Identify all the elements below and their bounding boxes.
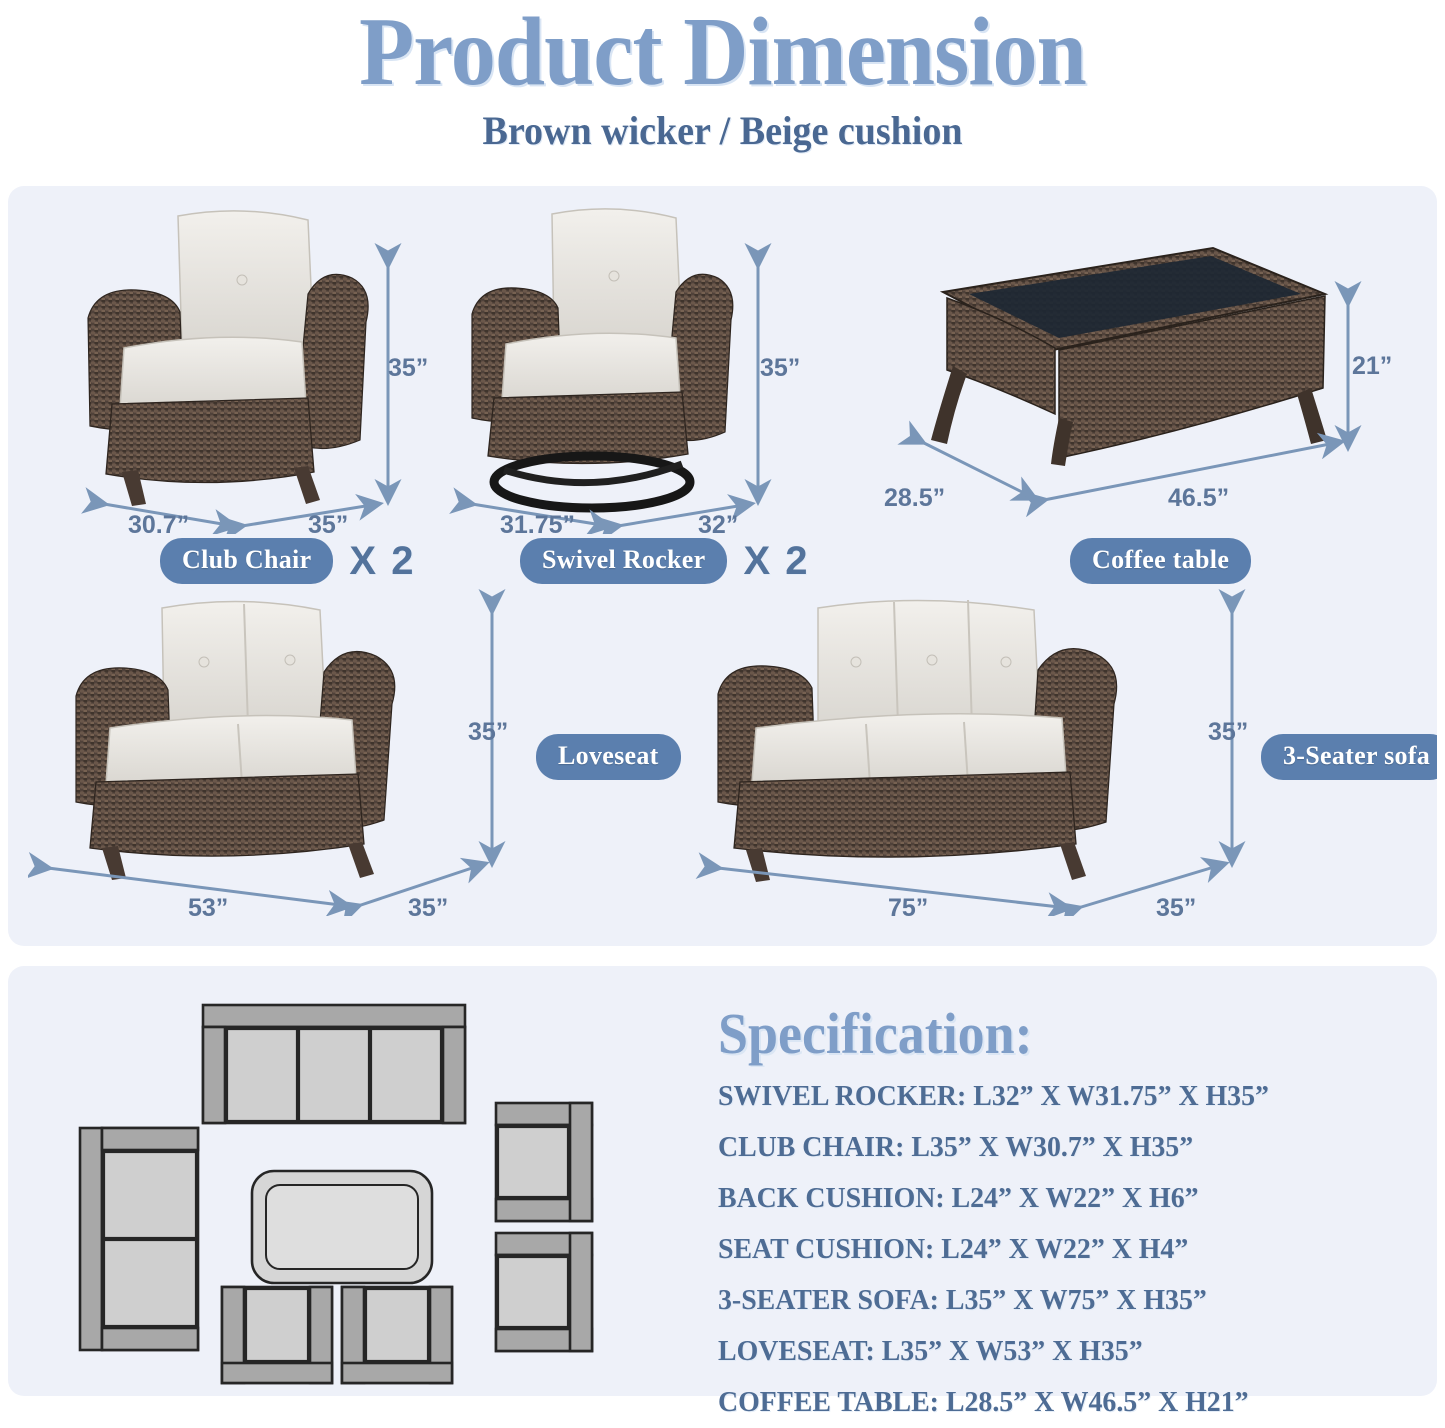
club-chair-width-value: 30.7” [128,511,189,540]
spec-line-back-cushion: BACK CUSHION: L24” X W22” X H6” [718,1173,1409,1224]
coffee-table-plan [252,1171,432,1283]
swivel-rocker-height-value: 35” [760,354,800,383]
three-seater-sofa-height-value: 35” [1208,718,1248,747]
three-seater-sofa-width-value: 75” [888,894,928,923]
club-chair-plan-bottom-right [342,1287,452,1383]
club-chair-depth-value: 35” [308,511,348,540]
loveseat-width-value: 53” [188,894,228,923]
swivel-rocker-label: Swivel Rocker [520,538,727,584]
specification-list: Specification: SWIVEL ROCKER: L32” X W31… [718,1000,1438,1428]
page-header: Product Dimension Brown wicker / Beige c… [0,0,1445,154]
three-seater-sofa-depth-value: 35” [1156,894,1196,923]
coffee-table-width-value: 28.5” [884,484,945,513]
layout-plan-diagram: .fr{fill:#c9c9c9;stroke:#262626;stroke-w… [70,995,690,1395]
spec-line-seat-cushion: SEAT CUSHION: L24” X W22” X H4” [718,1224,1409,1275]
swivel-rocker-depth-value: 32” [698,511,738,540]
page-title: Product Dimension [51,4,1395,99]
swivel-rocker-width-value: 31.75” [500,511,575,540]
coffee-table-depth-value: 46.5” [1168,484,1229,513]
loveseat-height-value: 35” [468,718,508,747]
loveseat-depth-value: 35” [408,894,448,923]
spec-line-swivel-rocker: SWIVEL ROCKER: L32” X W31.75” X H35” [718,1071,1409,1122]
coffee-table-label: Coffee table [1070,538,1251,584]
spec-line-loveseat: LOVESEAT: L35” X W53” X H35” [718,1326,1409,1377]
spec-line-club-chair: CLUB CHAIR: L35” X W30.7” X H35” [718,1122,1409,1173]
club-chair-label: Club Chair [160,538,333,584]
club-chair-plan-right-bottom [496,1233,592,1351]
coffee-table-height-value: 21” [1352,352,1392,381]
loveseat-plan [80,1128,198,1350]
club-chair-plan-right-top [496,1103,592,1221]
spec-line-three-seater-sofa: 3-SEATER SOFA: L35” X W75” X H35” [718,1275,1409,1326]
loveseat-label: Loveseat [536,734,681,780]
three-seater-sofa-dimension-arrows [668,586,1288,916]
three-seater-sofa-plan [203,1005,465,1123]
three-seater-sofa-label: 3-Seater sofa [1261,734,1437,780]
coffee-table-dimension-arrows [888,246,1368,526]
swivel-rocker-quantity: X 2 [743,539,809,584]
club-chair-height-value: 35” [388,354,428,383]
club-chair-plan-bottom-left [222,1287,332,1383]
club-chair-dimension-arrows [38,204,438,534]
loveseat-dimension-arrows [28,586,548,916]
dimensions-panel: 35” 30.7” 35” Club Chair X 2 35” 31.75” … [8,186,1437,946]
specification-heading: Specification: [718,1000,1388,1067]
club-chair-quantity: X 2 [349,539,415,584]
spec-line-coffee-table: COFFEE TABLE: L28.5” X W46.5” X H21” [718,1377,1409,1428]
page-subtitle: Brown wicker / Beige cushion [36,107,1409,154]
